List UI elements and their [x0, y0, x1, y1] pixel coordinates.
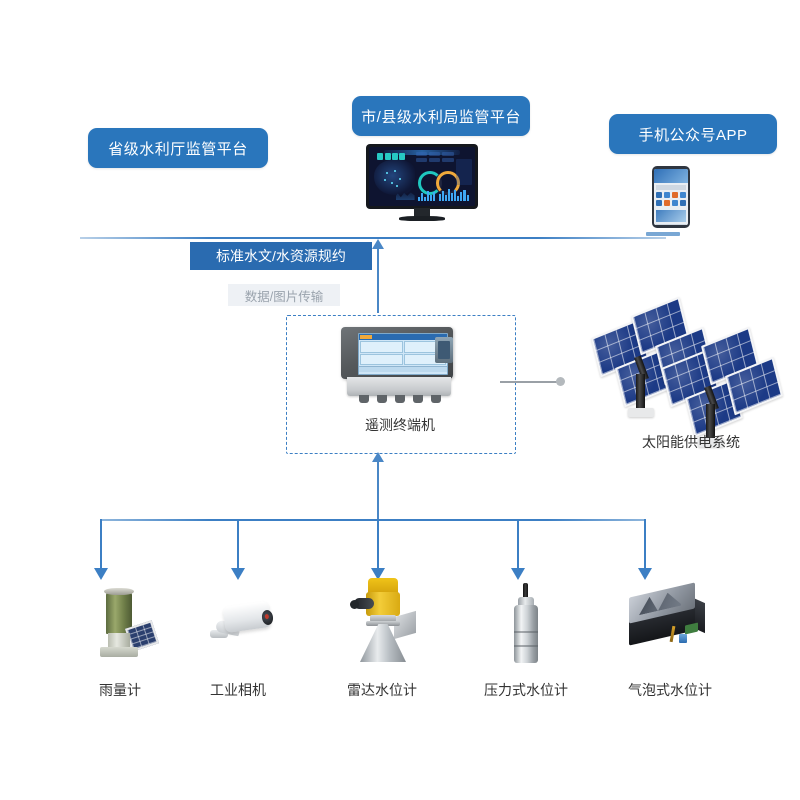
dashboard-side-panel — [456, 159, 472, 186]
phone-photo — [656, 210, 686, 222]
rain-gauge-neck — [108, 633, 130, 648]
sensor-label-radar-level: 雷达水位计 — [312, 680, 452, 700]
monitor-bezel — [366, 144, 478, 209]
protocol-standard-box: 标准水文/水资源规约 — [190, 242, 372, 270]
protocol-transmission-box: 数据/图片传输 — [228, 284, 340, 306]
radar-level-gauge-icon — [346, 578, 418, 664]
dashboard-kpi-blocks — [377, 153, 405, 159]
industrial-camera-icon — [210, 602, 276, 650]
phone-row — [656, 224, 686, 225]
monitor-screen — [369, 147, 475, 206]
bus-arrow-to-bubble-level — [638, 520, 652, 580]
rtu-terminal-icon — [333, 327, 473, 401]
antenna-icon — [500, 381, 562, 383]
bus-arrow-to-pressure-level — [511, 520, 525, 580]
sensor-label-pressure-level: 压力式水位计 — [456, 680, 596, 700]
rain-gauge-base — [100, 647, 138, 657]
platform-box-city-county[interactable]: 市/县级水利局监管平台 — [352, 96, 530, 136]
platform-label: 省级水利厅监管平台 — [108, 138, 248, 159]
pressure-ring — [514, 645, 538, 647]
pressure-ring — [514, 631, 538, 633]
protocol-transmission-label: 数据/图片传输 — [245, 286, 323, 305]
monitor-stand-base — [399, 216, 445, 221]
pressure-body — [514, 605, 538, 663]
system-architecture-diagram: 省级水利厅监管平台 市/县级水利局监管平台 手机公众号APP — [0, 0, 800, 800]
rtu-label: 遥测终端机 — [286, 415, 514, 435]
dashboard-map — [374, 160, 414, 195]
platform-label: 市/县级水利局监管平台 — [361, 106, 521, 127]
smartphone-icon — [652, 166, 690, 228]
bus-arrow-to-rain-gauge — [94, 520, 108, 580]
rain-gauge-rim — [104, 588, 134, 595]
dashboard-bar-chart-b — [439, 188, 469, 201]
rtu-cable-glands — [359, 395, 441, 403]
phone-banner — [654, 169, 688, 183]
pressure-level-gauge-icon — [511, 583, 541, 665]
antenna-tip-icon — [556, 377, 565, 386]
rtu-connector-port — [438, 341, 450, 359]
sensor-uplink-arrow-to-rtu — [372, 452, 384, 522]
phone-app-icons — [654, 190, 688, 208]
bubble-terminal-block — [685, 622, 698, 634]
uplink-arrow-to-platforms — [372, 239, 384, 313]
sensor-label-industrial-camera: 工业相机 — [168, 680, 308, 700]
rtu-case — [341, 327, 453, 379]
bus-arrow-to-radar-level — [371, 520, 385, 580]
desktop-monitor-icon — [366, 144, 478, 222]
bus-arrow-to-camera — [231, 520, 245, 580]
rtu-base-enclosure — [347, 377, 451, 396]
dashboard-stat-tiles — [416, 152, 454, 161]
bubble-connector — [679, 634, 687, 643]
platform-box-mobile-app[interactable]: 手机公众号APP — [609, 114, 777, 154]
platform-label: 手机公众号APP — [638, 124, 747, 145]
phone-screen — [654, 169, 688, 225]
rtu-screen-statusbar — [359, 366, 447, 372]
radar-connector-end — [350, 600, 359, 609]
rtu-screen-grid — [359, 340, 447, 366]
sensor-label-bubble-level: 气泡式水位计 — [600, 680, 740, 700]
bubble-level-gauge-icon — [627, 588, 707, 650]
solar-label: 太阳能供电系统 — [586, 432, 796, 452]
dashboard-bar-chart-a — [418, 189, 435, 201]
phone-shadow — [646, 232, 680, 236]
phone-body — [652, 166, 690, 228]
rain-gauge-icon — [88, 588, 152, 664]
protocol-standard-label: 标准水文/水资源规约 — [216, 246, 346, 266]
platform-box-provincial[interactable]: 省级水利厅监管平台 — [88, 128, 268, 168]
